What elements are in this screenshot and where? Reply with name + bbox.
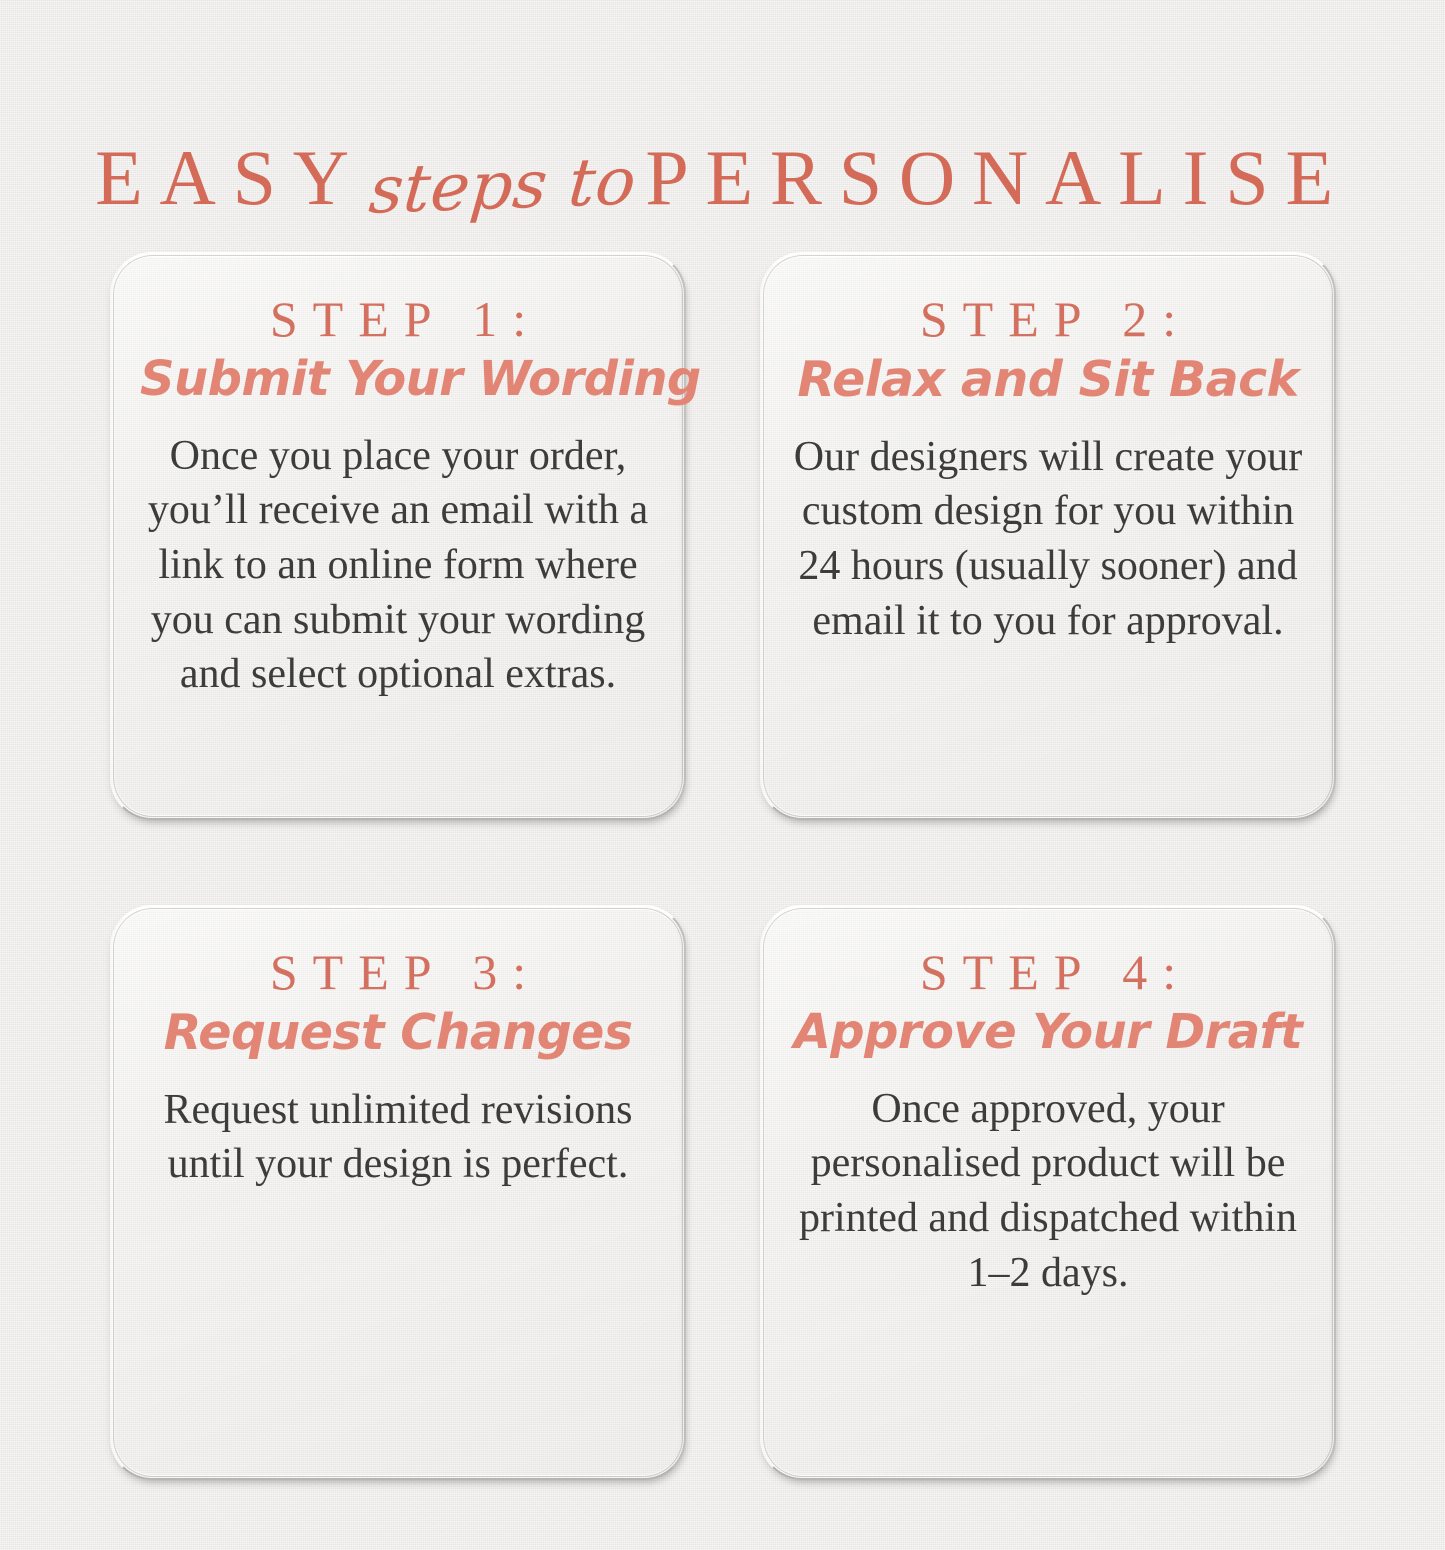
steps-card-grid: STEP 1: Submit Your Wording Once you pla… — [110, 252, 1336, 1480]
step-2-title: Relax and Sit Back — [790, 353, 1306, 408]
title-script-steps-to: steps to — [362, 149, 648, 225]
page-title: EASYsteps toPERSONALISE — [0, 139, 1445, 217]
step-2-label: STEP 2: — [790, 292, 1306, 347]
title-word-personalise: PERSONALISE — [645, 134, 1350, 221]
step-4-title: Approve Your Draft — [790, 1006, 1306, 1060]
step-1-title: Submit Your Wording — [140, 353, 656, 407]
step-4-label: STEP 4: — [790, 945, 1306, 1000]
step-4-body: Once approved, your personalised product… — [790, 1082, 1306, 1300]
step-1-body: Once you place your order, you’ll receiv… — [142, 429, 654, 702]
step-card-2: STEP 2: Relax and Sit Back Our designers… — [760, 252, 1336, 820]
step-2-body: Our designers will create your custom de… — [792, 430, 1304, 648]
step-3-title: Request Changes — [140, 1006, 656, 1061]
step-3-body: Request unlimited revisions until your d… — [140, 1083, 656, 1192]
infographic-page: EASYsteps toPERSONALISE STEP 1: Submit Y… — [0, 0, 1445, 1550]
step-card-3: STEP 3: Request Changes Request unlimite… — [110, 905, 686, 1480]
title-word-easy: EASY — [95, 134, 366, 221]
step-1-label: STEP 1: — [140, 292, 656, 347]
step-card-4: STEP 4: Approve Your Draft Once approved… — [760, 905, 1336, 1480]
step-3-label: STEP 3: — [140, 945, 656, 1000]
step-card-1: STEP 1: Submit Your Wording Once you pla… — [110, 252, 686, 820]
